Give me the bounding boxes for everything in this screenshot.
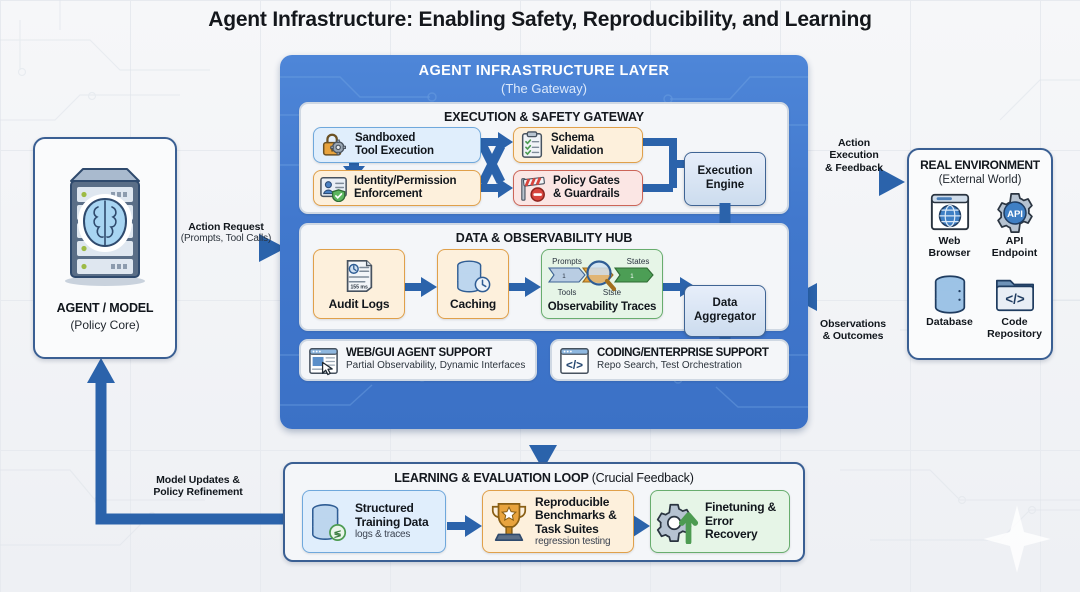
card-finetuning-error-recovery-label: Finetuning & Error Recovery — [705, 501, 784, 541]
coding-support-title: CODING/ENTERPRISE SUPPORT — [597, 347, 783, 359]
web-gui-agent-support-box[interactable]: WEB/GUI AGENT SUPPORT Partial Observabil… — [299, 339, 537, 381]
api-gear-icon: API — [993, 192, 1037, 234]
card-schema-validation[interactable]: Schema Validation — [513, 127, 643, 163]
card-sandboxed-tool-execution[interactable]: Sandboxed Tool Execution — [313, 127, 481, 163]
magnifier-trace-icon: Prompts States 1 1 Tools Stste — [543, 255, 661, 301]
card-reproducible-benchmarks[interactable]: Reproducible Benchmarks & Task Suites re… — [482, 490, 634, 553]
svg-text:1: 1 — [630, 272, 634, 279]
svg-text:≶: ≶ — [334, 528, 342, 539]
coding-support-subtitle: Repo Search, Test Orchestration — [597, 360, 783, 371]
trace-label-states: States — [627, 257, 650, 266]
learning-evaluation-loop-box[interactable]: LEARNING & EVALUATION LOOP (Crucial Feed… — [283, 462, 805, 562]
env-item-api-endpoint[interactable]: API API Endpoint — [982, 192, 1047, 273]
card-observability-traces-label: Observability Traces — [548, 301, 657, 314]
diagram-canvas: Agent Infrastructure: Enabling Safety, R… — [0, 0, 1080, 592]
card-observability-traces[interactable]: Prompts States 1 1 Tools Stste — [541, 249, 663, 319]
clipboard-check-icon — [519, 131, 545, 159]
env-item-api-endpoint-caption: API Endpoint — [992, 236, 1038, 259]
edge-label-observations-outcomes: Observations & Outcomes — [800, 318, 906, 343]
web-browser-globe-icon — [928, 192, 972, 234]
env-item-web-browser[interactable]: Web Browser — [917, 192, 982, 273]
svg-text:</>: </> — [566, 359, 583, 372]
execution-engine-label: Execution Engine — [698, 165, 753, 192]
agent-infrastructure-layer-panel[interactable]: AGENT INFRASTRUCTURE LAYER (The Gateway)… — [280, 55, 808, 429]
code-window-icon: </> — [559, 347, 590, 376]
real-environment-title: REAL ENVIRONMENT — [909, 158, 1051, 172]
card-policy-label: Policy Gates & Guardrails — [553, 175, 620, 201]
card-audit-logs-label: Audit Logs — [329, 298, 390, 311]
card-schema-label: Schema Validation — [551, 132, 603, 158]
edge-label-action-execution-feedback: Action Execution & Feedback — [806, 137, 902, 174]
gateway-subtitle: (The Gateway) — [280, 81, 808, 96]
edge-label-model-updates: Model Updates & Policy Refinement — [112, 474, 284, 499]
card-structured-training-data-label: Structured Training Data logs & traces — [355, 502, 428, 540]
sparkle-watermark-icon — [982, 504, 1052, 574]
database-icon — [928, 273, 972, 315]
trace-label-tools: Tools — [558, 288, 577, 297]
card-caching[interactable]: Caching — [437, 249, 509, 319]
data-aggregator-label: Data Aggregator — [694, 297, 756, 324]
data-aggregator-box[interactable]: Data Aggregator — [684, 285, 766, 337]
real-environment-box[interactable]: REAL ENVIRONMENT (External World) — [907, 148, 1053, 360]
env-item-code-repository[interactable]: </> Code Repository — [982, 273, 1047, 354]
card-audit-logs[interactable]: 155 ms Audit Logs — [313, 249, 405, 319]
svg-text:API: API — [1007, 209, 1023, 220]
svg-text:1: 1 — [562, 272, 566, 279]
lock-gear-icon — [319, 130, 349, 160]
agent-model-box[interactable]: AGENT / MODEL (Policy Core) — [33, 137, 177, 359]
gear-uparrow-icon — [656, 500, 700, 544]
web-gui-support-title: WEB/GUI AGENT SUPPORT — [346, 347, 531, 359]
card-reproducible-benchmarks-label: Reproducible Benchmarks & Task Suites re… — [535, 496, 617, 548]
barrier-stop-icon — [519, 173, 547, 203]
card-structured-training-data[interactable]: ≶ Structured Training Data logs & traces — [302, 490, 446, 553]
browser-cursor-icon — [308, 347, 339, 376]
svg-text:</>: </> — [1005, 292, 1025, 307]
coding-enterprise-support-box[interactable]: </> CODING/ENTERPRISE SUPPORT Repo Searc… — [550, 339, 789, 381]
id-badge-shield-icon — [319, 174, 349, 202]
card-sandboxed-label: Sandboxed Tool Execution — [355, 132, 434, 158]
gateway-title: AGENT INFRASTRUCTURE LAYER — [280, 63, 808, 79]
env-item-web-browser-caption: Web Browser — [928, 236, 970, 259]
card-caching-label: Caching — [450, 298, 496, 311]
database-coin-icon: ≶ — [308, 500, 350, 544]
card-identity-permission-enforcement[interactable]: Identity/Permission Enforcement — [313, 170, 481, 206]
audit-log-latency-badge: 155 ms — [350, 284, 368, 290]
database-clock-icon — [453, 257, 493, 295]
trophy-icon — [488, 499, 530, 545]
document-clock-icon: 155 ms — [340, 257, 378, 295]
card-finetuning-error-recovery[interactable]: Finetuning & Error Recovery — [650, 490, 790, 553]
agent-model-title: AGENT / MODEL — [35, 301, 175, 315]
card-identity-label: Identity/Permission Enforcement — [354, 175, 456, 201]
real-environment-subtitle: (External World) — [909, 174, 1051, 186]
card-policy-gates-guardrails[interactable]: Policy Gates & Guardrails — [513, 170, 643, 206]
env-item-database-caption: Database — [926, 317, 973, 329]
env-item-database[interactable]: Database — [917, 273, 982, 354]
edge-label-action-request: Action Request (Prompts, Tool Calls) — [165, 221, 287, 245]
execution-engine-box[interactable]: Execution Engine — [684, 152, 766, 206]
code-folder-icon: </> — [993, 273, 1037, 315]
web-gui-support-subtitle: Partial Observability, Dynamic Interface… — [346, 360, 531, 371]
trace-label-prompts: Prompts — [552, 257, 582, 266]
env-item-code-repository-caption: Code Repository — [987, 317, 1042, 340]
page-title: Agent Infrastructure: Enabling Safety, R… — [0, 8, 1080, 32]
server-brain-icon — [53, 161, 157, 289]
agent-model-subtitle: (Policy Core) — [35, 318, 175, 332]
